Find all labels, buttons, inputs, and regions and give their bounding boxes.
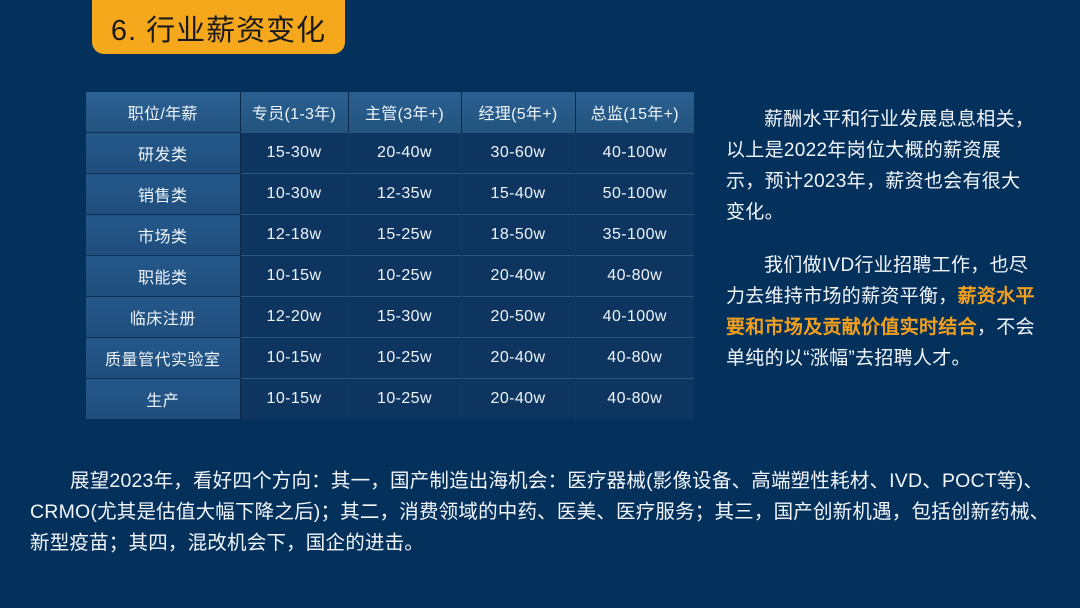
salary-cell: 40-100w <box>575 297 694 338</box>
salary-cell: 40-100w <box>575 133 694 174</box>
table-row: 临床注册 12-20w 15-30w 20-50w 40-100w <box>86 297 694 338</box>
salary-cell: 10-15w <box>240 379 348 420</box>
salary-cell: 10-15w <box>240 256 348 297</box>
footer-outlook-text: 展望2023年，看好四个方向：其一，国产制造出海机会：医疗器械(影像设备、高端塑… <box>30 466 1056 559</box>
salary-cell: 10-15w <box>240 338 348 379</box>
salary-cell: 40-80w <box>575 379 694 420</box>
salary-cell: 12-35w <box>348 174 461 215</box>
row-label: 职能类 <box>86 256 240 297</box>
side-notes: 薪酬水平和行业发展息息相关，以上是2022年岗位大概的薪资展示，预计2023年，… <box>726 104 1038 374</box>
table-header-row: 职位/年薪 专员(1-3年) 主管(3年+) 经理(5年+) 总监(15年+) <box>86 92 694 133</box>
row-label: 销售类 <box>86 174 240 215</box>
salary-cell: 18-50w <box>461 215 575 256</box>
salary-cell: 35-100w <box>575 215 694 256</box>
salary-cell: 15-30w <box>348 297 461 338</box>
salary-cell: 20-40w <box>461 256 575 297</box>
table-row: 市场类 12-18w 15-25w 18-50w 35-100w <box>86 215 694 256</box>
table-row: 研发类 15-30w 20-40w 30-60w 40-100w <box>86 133 694 174</box>
column-header-specialist: 专员(1-3年) <box>240 92 348 133</box>
row-label: 临床注册 <box>86 297 240 338</box>
salary-cell: 10-25w <box>348 256 461 297</box>
salary-cell: 12-20w <box>240 297 348 338</box>
row-label: 质量管代实验室 <box>86 338 240 379</box>
row-label: 生产 <box>86 379 240 420</box>
table-row: 销售类 10-30w 12-35w 15-40w 50-100w <box>86 174 694 215</box>
salary-cell: 12-18w <box>240 215 348 256</box>
page-title: 6. 行业薪资变化 <box>111 14 326 48</box>
side-paragraph-2: 我们做IVD行业招聘工作，也尽力去维持市场的薪资平衡，薪资水平要和市场及贡献价值… <box>726 250 1038 374</box>
salary-cell: 15-40w <box>461 174 575 215</box>
table-row: 生产 10-15w 10-25w 20-40w 40-80w <box>86 379 694 420</box>
salary-cell: 20-50w <box>461 297 575 338</box>
salary-cell: 30-60w <box>461 133 575 174</box>
salary-cell: 20-40w <box>461 379 575 420</box>
salary-table: 职位/年薪 专员(1-3年) 主管(3年+) 经理(5年+) 总监(15年+) … <box>86 92 694 419</box>
salary-cell: 10-25w <box>348 338 461 379</box>
salary-cell: 20-40w <box>461 338 575 379</box>
salary-cell: 20-40w <box>348 133 461 174</box>
column-header-manager: 经理(5年+) <box>461 92 575 133</box>
salary-cell: 40-80w <box>575 256 694 297</box>
row-label: 研发类 <box>86 133 240 174</box>
salary-cell: 50-100w <box>575 174 694 215</box>
section-title-badge: 6. 行业薪资变化 <box>92 0 345 54</box>
salary-cell: 15-25w <box>348 215 461 256</box>
table-row: 职能类 10-15w 10-25w 20-40w 40-80w <box>86 256 694 297</box>
row-label: 市场类 <box>86 215 240 256</box>
column-header-position: 职位/年薪 <box>86 92 240 133</box>
salary-cell: 15-30w <box>240 133 348 174</box>
table-body: 研发类 15-30w 20-40w 30-60w 40-100w 销售类 10-… <box>86 133 694 420</box>
salary-cell: 10-30w <box>240 174 348 215</box>
table-header: 职位/年薪 专员(1-3年) 主管(3年+) 经理(5年+) 总监(15年+) <box>86 92 694 133</box>
column-header-director: 总监(15年+) <box>575 92 694 133</box>
salary-cell: 10-25w <box>348 379 461 420</box>
column-header-supervisor: 主管(3年+) <box>348 92 461 133</box>
salary-cell: 40-80w <box>575 338 694 379</box>
side-paragraph-1: 薪酬水平和行业发展息息相关，以上是2022年岗位大概的薪资展示，预计2023年，… <box>726 104 1038 228</box>
table-row: 质量管代实验室 10-15w 10-25w 20-40w 40-80w <box>86 338 694 379</box>
